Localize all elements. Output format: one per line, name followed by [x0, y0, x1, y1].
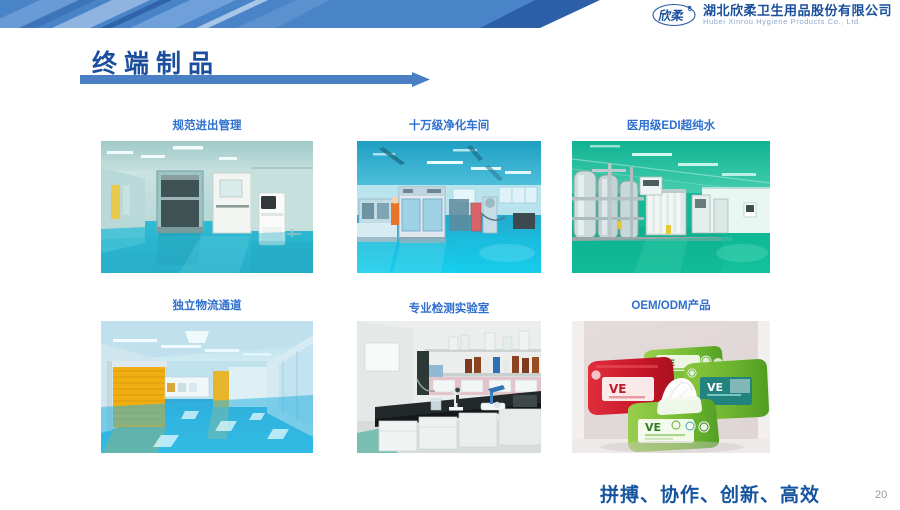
company-name-cn: 湖北欣柔卫生用品股份有限公司 [703, 4, 892, 17]
photo-cleanroom-workshop [357, 141, 541, 273]
xinrou-brand-logo-icon: 欣柔 [651, 3, 697, 27]
svg-text:VE: VE [645, 421, 661, 434]
photo-testing-laboratory [357, 321, 541, 453]
caption-testing-laboratory: 专业检测实验室 [357, 300, 541, 316]
company-logo-block: 欣柔 湖北欣柔卫生用品股份有限公司 Hubei Xinrou Hygiene P… [651, 2, 892, 28]
caption-cleanroom-workshop: 十万级净化车间 [357, 117, 541, 133]
photo-logistics-corridor [101, 321, 313, 453]
title-arrow-decoration [80, 72, 430, 87]
footer-slogan: 拼搏、协作、创新、高效 [600, 480, 820, 507]
photo-cleanroom-entrance [101, 141, 313, 273]
svg-text:VE: VE [609, 382, 626, 396]
photo-oem-odm-products: VE VE VE [572, 321, 770, 453]
caption-oem-odm-products: OEM/ODM产品 [572, 297, 770, 313]
caption-edi-water: 医用级EDI超纯水 [572, 117, 770, 133]
company-name-en: Hubei Xinrou Hygiene Products Co., Ltd. [703, 17, 892, 26]
svg-text:欣柔: 欣柔 [658, 8, 686, 23]
caption-cleanroom-entrance: 规范进出管理 [101, 117, 313, 133]
photo-edi-ultrapure-water [572, 141, 770, 273]
slide-header-bar: 欣柔 湖北欣柔卫生用品股份有限公司 Hubei Xinrou Hygiene P… [0, 0, 900, 28]
slide-canvas: 欣柔 湖北欣柔卫生用品股份有限公司 Hubei Xinrou Hygiene P… [0, 0, 900, 510]
page-number: 20 [875, 489, 887, 501]
svg-text:VE: VE [707, 381, 723, 394]
header-diagonal-stripes [0, 0, 330, 28]
caption-logistics-corridor: 独立物流通道 [101, 297, 313, 313]
